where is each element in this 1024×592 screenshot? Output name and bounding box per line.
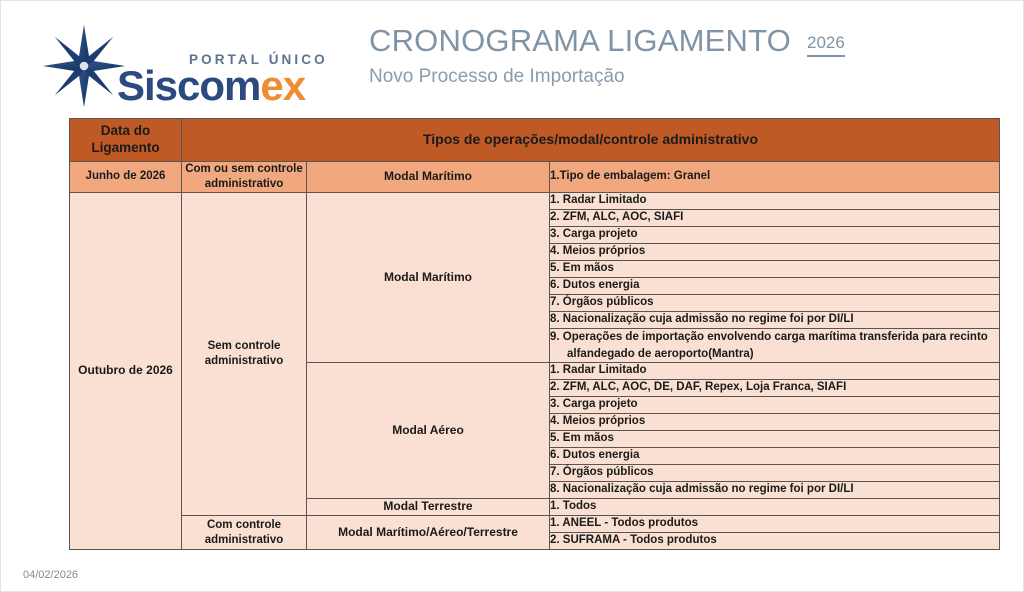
cell-control-sem: Sem controle administrativo [182,192,307,515]
cell-item-maritimo-9-line2: alfandegado de aeroporto(Mantra) [550,346,999,363]
cell-modal-maritimo: Modal Marítimo [307,192,550,362]
siscomex-logo: PORTAL ÚNICO Siscomex [39,19,329,107]
slide-canvas: PORTAL ÚNICO Siscomex CRONOGRAMA LIGAMEN… [0,0,1024,592]
logo-siscomex-text: Siscomex [117,65,305,107]
cell-modal-junho: Modal Marítimo [307,162,550,193]
title-year: 2026 [807,33,845,57]
cell-item-junho-1: 1.Tipo de embalagem: Granel [550,162,1000,193]
title-block: CRONOGRAMA LIGAMENTO2026 Novo Processo d… [369,23,845,89]
cell-item-maritimo-9-line1: 9. Operações de importação envolvendo ca… [550,331,988,343]
cell-item-maritimo-9: 9. Operações de importação envolvendo ca… [550,328,1000,362]
cell-modal-terrestre: Modal Terrestre [307,499,550,516]
cell-item-maritimo-3: 3. Carga projeto [550,226,1000,243]
cronograma-table: Data do Ligamento Tipos de operações/mod… [69,118,1000,550]
cell-item-aereo-7: 7. Órgãos públicos [550,465,1000,482]
cell-item-maritimo-1: 1. Radar Limitado [550,192,1000,209]
compass-star-icon [41,23,127,109]
cell-item-maritimo-8: 8. Nacionalização cuja admissão no regim… [550,311,1000,328]
cell-item-aereo-5: 5. Em mãos [550,431,1000,448]
table-row: Outubro de 2026 Sem controle administrat… [70,192,1000,209]
cell-modal-aereo: Modal Aéreo [307,363,550,499]
cell-item-aereo-8: 8. Nacionalização cuja admissão no regim… [550,482,1000,499]
col-header-operations: Tipos de operações/modal/controle admini… [182,119,1000,162]
cell-item-comctrl-2: 2. SUFRAMA - Todos produtos [550,533,1000,550]
slide-header: PORTAL ÚNICO Siscomex CRONOGRAMA LIGAMEN… [1,1,1024,119]
cell-item-terrestre-1: 1. Todos [550,499,1000,516]
logo-siscom-part: Siscom [117,62,260,109]
table-header-row: Data do Ligamento Tipos de operações/mod… [70,119,1000,162]
cell-item-aereo-4: 4. Meios próprios [550,414,1000,431]
cell-item-aereo-2: 2. ZFM, ALC, AOC, DE, DAF, Repex, Loja F… [550,380,1000,397]
cell-control-junho: Com ou sem controle administrativo [182,162,307,193]
page-title: CRONOGRAMA LIGAMENTO [369,23,791,60]
cell-item-maritimo-7: 7. Órgãos públicos [550,294,1000,311]
table-row: Com controle administrativo Modal Maríti… [70,516,1000,533]
cell-item-aereo-1: 1. Radar Limitado [550,363,1000,380]
page-subtitle: Novo Processo de Importação [369,64,629,89]
table-row: Junho de 2026 Com ou sem controle admini… [70,162,1000,193]
cell-modal-todos: Modal Marítimo/Aéreo/Terrestre [307,516,550,550]
cell-date-junho: Junho de 2026 [70,162,182,193]
cell-item-maritimo-4: 4. Meios próprios [550,243,1000,260]
cell-item-maritimo-5: 5. Em mãos [550,260,1000,277]
col-header-date: Data do Ligamento [70,119,182,162]
cell-item-aereo-3: 3. Carga projeto [550,397,1000,414]
cell-date-outubro: Outubro de 2026 [70,192,182,549]
logo-ex-part: ex [260,62,305,109]
cell-item-maritimo-6: 6. Dutos energia [550,277,1000,294]
cell-item-maritimo-2: 2. ZFM, ALC, AOC, SIAFI [550,209,1000,226]
cell-control-com: Com controle administrativo [182,516,307,550]
footer-date: 04/02/2026 [23,569,78,581]
cell-item-comctrl-1: 1. ANEEL - Todos produtos [550,516,1000,533]
cell-item-aereo-6: 6. Dutos energia [550,448,1000,465]
